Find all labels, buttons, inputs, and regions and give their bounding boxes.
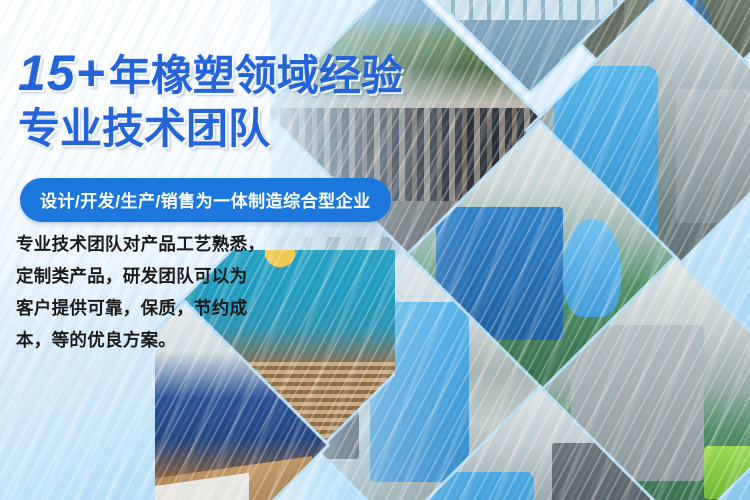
body-copy-line: 本，等的优良方案。 — [16, 324, 284, 356]
text-block: 15+年橡塑领域经验 专业技术团队 设计/开发/生产/销售为一体制造综合型企业 … — [0, 0, 430, 500]
body-copy-line: 客户提供可靠，保质，节约成 — [16, 292, 284, 324]
promo-banner: 15+年橡塑领域经验 专业技术团队 设计/开发/生产/销售为一体制造综合型企业 … — [0, 0, 750, 500]
body-copy-line: 专业技术团队对产品工艺熟悉， — [16, 228, 284, 260]
tagline-pill: 设计/开发/生产/销售为一体制造综合型企业 — [20, 178, 391, 222]
headline-number: 15+ — [18, 45, 106, 101]
headline-line-1: 15+年橡塑领域经验 — [18, 48, 438, 98]
headline-line-1-text: 年橡塑领域经验 — [109, 52, 403, 99]
body-copy-line: 定制类产品，研发团队可以为 — [16, 260, 284, 292]
body-copy: 专业技术团队对产品工艺熟悉， 定制类产品，研发团队可以为 客户提供可靠，保质，节… — [16, 228, 284, 356]
headline-line-2: 专业技术团队 — [18, 108, 438, 150]
headline: 15+年橡塑领域经验 专业技术团队 — [18, 48, 438, 150]
